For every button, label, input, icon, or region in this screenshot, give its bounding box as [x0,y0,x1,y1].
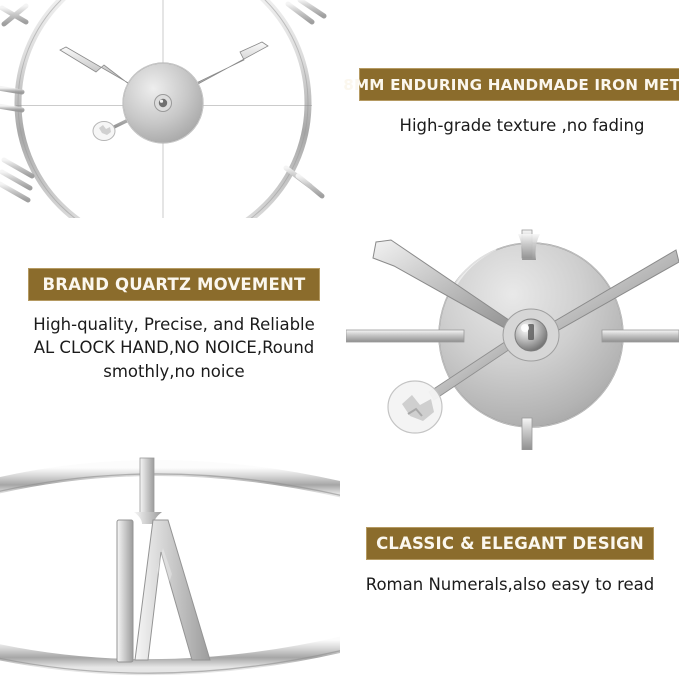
clock-face-illustration [0,0,340,218]
feature-iron-metal-banner: 8MM ENDURING HANDMADE IRON METAL [359,68,679,101]
feature-quartz-movement-banner: BRAND QUARTZ MOVEMENT [28,268,320,301]
feature-iron-metal: 8MM ENDURING HANDMADE IRON METAL High-gr… [352,68,679,137]
feature-quartz-movement-subtitle: High-quality, Precise, and Reliable AL C… [24,313,324,383]
clock-hub-illustration [346,222,679,450]
clock-hub-closeup-photo [346,222,679,450]
feature-quartz-movement-subtitle-line-1: High-quality, Precise, and Reliable [24,313,324,336]
clock-face-photo [0,0,340,218]
roman-numeral-illustration [0,452,340,679]
clock-hub [123,63,203,143]
feature-classic-design-banner: CLASSIC & ELEGANT DESIGN [366,527,654,560]
feature-quartz-movement-subtitle-line-2: AL CLOCK HAND,NO NOICE,Round [24,336,324,359]
feature-quartz-movement-subtitle-line-3: smothly,no noice [24,360,324,383]
feature-iron-metal-subtitle: High-grade texture ,no fading [372,114,672,137]
feature-classic-design-subtitle: Roman Numerals,also easy to read [360,573,660,596]
roman-numeral-detail-photo [0,452,340,679]
feature-quartz-movement: BRAND QUARTZ MOVEMENT High-quality, Prec… [24,268,324,383]
center-cap [503,309,559,361]
infographic-page: 8MM ENDURING HANDMADE IRON METAL High-gr… [0,0,679,679]
feature-classic-design: CLASSIC & ELEGANT DESIGN Roman Numerals,… [360,527,660,596]
